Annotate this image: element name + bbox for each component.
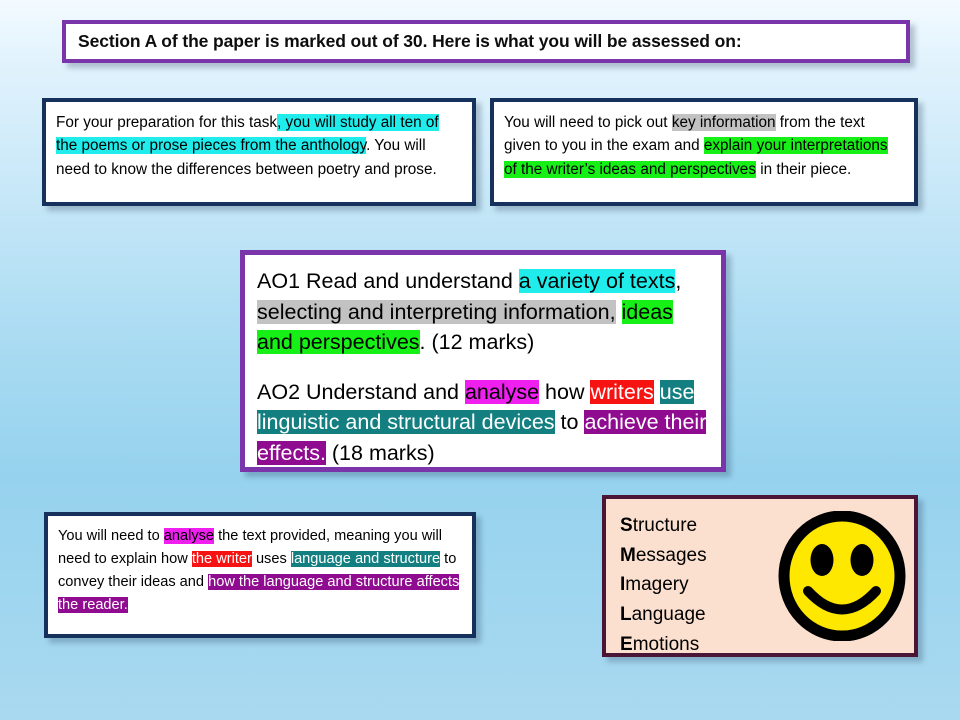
highlight-red: writers [590,380,653,404]
page-title: Section A of the paper is marked out of … [78,32,742,51]
smile-item-l: Language [620,602,707,628]
smile-item-rest: magery [625,574,688,595]
task-analysis-text: You will need to analyse the text provid… [58,525,462,617]
smile-item-initial: S [620,515,633,536]
smile-item-rest: essages [636,545,707,566]
info-box-preparation: For your preparation for this task, you … [42,98,476,206]
smiley-face-icon [778,511,906,646]
highlight-cyan: , you will study all ten of the poems or… [56,114,439,154]
info-box-exam-skills: You will need to pick out key informatio… [490,98,918,206]
smile-item-initial: M [620,545,636,566]
smile-acronym-box: StructureMessagesImageryLanguageEmotions [602,495,918,657]
smile-item-rest: tructure [633,515,697,536]
title-banner: Section A of the paper is marked out of … [62,20,910,63]
smile-item-initial: E [620,634,633,655]
highlight-magenta: analyse [465,380,539,404]
highlight-gray: selecting and interpreting information, [257,300,616,324]
smile-item-e: Emotions [620,632,707,658]
smile-item-i: Imagery [620,572,707,598]
highlight-red: the writer [192,551,252,567]
info-left-text: For your preparation for this task, you … [56,111,462,181]
smile-item-rest: motions [633,634,700,655]
smile-acronym-list: StructureMessagesImageryLanguageEmotions [620,511,707,657]
highlight-cyan: a variety of texts [519,269,676,293]
smile-item-m: Messages [620,543,707,569]
assessment-objectives-box: AO1 Read and understand a variety of tex… [240,250,726,472]
ao1-line: AO1 Read and understand a variety of tex… [257,266,709,358]
smile-item-rest: anguage [632,604,706,625]
highlight-magenta: analyse [164,528,214,544]
highlight-purple: how the language and structure affects t… [58,574,459,613]
ao2-line: AO2 Understand and analyse how writers u… [257,377,709,469]
ao-spacer [257,358,709,377]
smile-item-s: Structure [620,513,707,539]
info-right-text: You will need to pick out key informatio… [504,111,904,181]
highlight-teal: language and structure [291,551,440,567]
smile-item-initial: L [620,604,632,625]
highlight-green: explain your interpretations of the writ… [504,137,888,177]
highlight-gray: key information [672,114,776,131]
info-box-analysis-task: You will need to analyse the text provid… [44,512,476,638]
